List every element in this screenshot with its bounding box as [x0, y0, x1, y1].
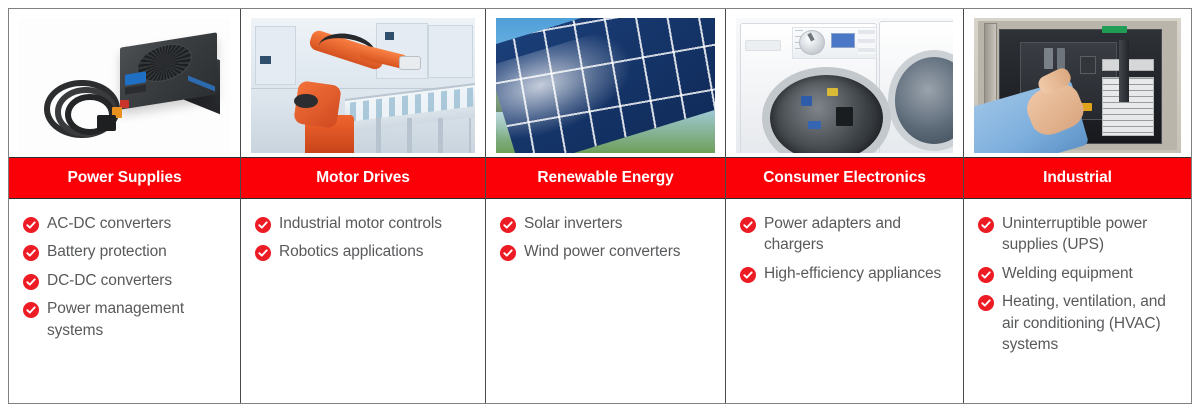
- list-item: DC-DC converters: [23, 270, 232, 291]
- robot-arm-photo: [251, 18, 475, 153]
- list-item: Solar inverters: [500, 213, 717, 234]
- list-item: Wind power converters: [500, 241, 717, 262]
- list-item-label: Robotics applications: [279, 241, 423, 262]
- column-header-power-supplies: Power Supplies: [9, 157, 240, 199]
- check-circle-icon: [500, 245, 516, 261]
- column-header-renewable-energy: Renewable Energy: [486, 157, 725, 199]
- list-item-label: Solar inverters: [524, 213, 622, 234]
- feature-list-consumer-electronics: Power adapters and chargers High-efficie…: [726, 199, 963, 403]
- applications-table: Power Supplies AC-DC converters Battery …: [8, 8, 1192, 404]
- check-circle-icon: [740, 217, 756, 233]
- list-item: Power adapters and chargers: [740, 213, 955, 256]
- list-item-label: High-efficiency appliances: [764, 263, 941, 284]
- check-circle-icon: [978, 295, 994, 311]
- list-item: Battery protection: [23, 241, 232, 262]
- check-circle-icon: [978, 217, 994, 233]
- list-item-label: Heating, ventilation, and air conditioni…: [1002, 291, 1183, 355]
- column-image-industrial: [964, 9, 1191, 157]
- list-item: Power management systems: [23, 298, 232, 341]
- feature-list-power-supplies: AC-DC converters Battery protection DC-D…: [9, 199, 240, 403]
- list-item-label: Uninterruptible power supplies (UPS): [1002, 213, 1183, 256]
- application-column-industrial: Industrial Uninterruptible power supplie…: [964, 9, 1191, 403]
- list-item: AC-DC converters: [23, 213, 232, 234]
- check-circle-icon: [978, 267, 994, 283]
- list-item: Heating, ventilation, and air conditioni…: [978, 291, 1183, 355]
- list-item: Welding equipment: [978, 263, 1183, 284]
- list-item: Industrial motor controls: [255, 213, 477, 234]
- check-circle-icon: [255, 245, 271, 261]
- feature-list-renewable-energy: Solar inverters Wind power converters: [486, 199, 725, 403]
- check-circle-icon: [23, 302, 39, 318]
- feature-list-industrial: Uninterruptible power supplies (UPS) Wel…: [964, 199, 1191, 403]
- check-circle-icon: [255, 217, 271, 233]
- column-image-consumer-electronics: [726, 9, 963, 157]
- column-image-renewable-energy: [486, 9, 725, 157]
- list-item-label: Welding equipment: [1002, 263, 1133, 284]
- check-circle-icon: [23, 245, 39, 261]
- circuit-breaker-photo: [974, 18, 1181, 153]
- list-item: High-efficiency appliances: [740, 263, 955, 284]
- check-circle-icon: [23, 274, 39, 290]
- check-circle-icon: [23, 217, 39, 233]
- list-item-label: Wind power converters: [524, 241, 680, 262]
- application-column-renewable-energy: Renewable Energy Solar inverters Wind po…: [486, 9, 726, 403]
- list-item-label: DC-DC converters: [47, 270, 172, 291]
- column-image-power-supplies: [9, 9, 240, 157]
- list-item-label: AC-DC converters: [47, 213, 171, 234]
- column-header-consumer-electronics: Consumer Electronics: [726, 157, 963, 199]
- feature-list-motor-drives: Industrial motor controls Robotics appli…: [241, 199, 485, 403]
- list-item-label: Industrial motor controls: [279, 213, 442, 234]
- check-circle-icon: [500, 217, 516, 233]
- check-circle-icon: [740, 267, 756, 283]
- application-column-motor-drives: Motor Drives Industrial motor controls R…: [241, 9, 486, 403]
- column-header-motor-drives: Motor Drives: [241, 157, 485, 199]
- power-supply-photo: [19, 18, 230, 153]
- list-item-label: Power management systems: [47, 298, 232, 341]
- list-item: Uninterruptible power supplies (UPS): [978, 213, 1183, 256]
- application-column-power-supplies: Power Supplies AC-DC converters Battery …: [9, 9, 241, 403]
- list-item: Robotics applications: [255, 241, 477, 262]
- solar-panel-photo: [496, 18, 715, 153]
- list-item-label: Battery protection: [47, 241, 167, 262]
- column-image-motor-drives: [241, 9, 485, 157]
- application-column-consumer-electronics: Consumer Electronics Power adapters and …: [726, 9, 964, 403]
- column-header-industrial: Industrial: [964, 157, 1191, 199]
- washing-machine-photo: [736, 18, 953, 153]
- list-item-label: Power adapters and chargers: [764, 213, 955, 256]
